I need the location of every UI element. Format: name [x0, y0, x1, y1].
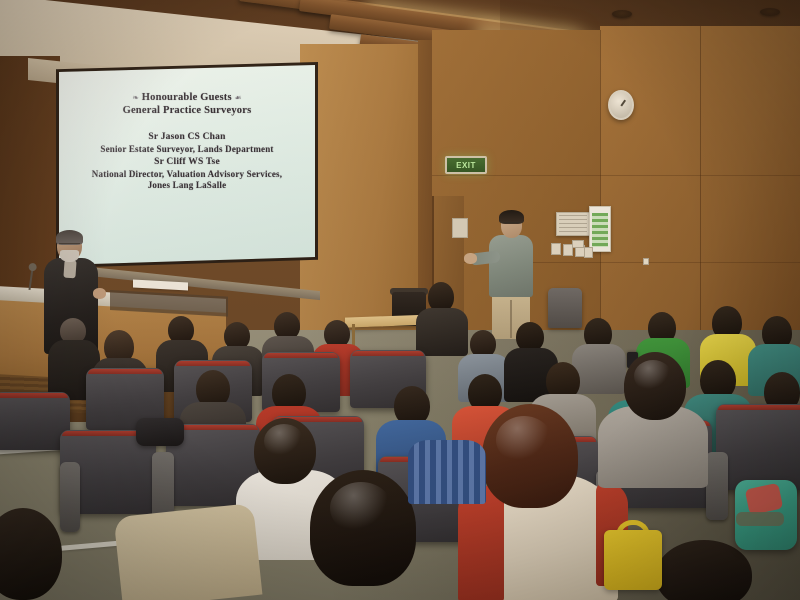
- presenter-body: [489, 235, 533, 297]
- wall-panel-seam: [432, 175, 800, 176]
- wall-small-sign: [572, 240, 584, 248]
- lectern-papers: [133, 280, 188, 291]
- exit-sign: EXIT: [445, 156, 487, 174]
- audience-body: [572, 344, 626, 394]
- exit-sign-label: EXIT: [456, 161, 476, 170]
- wall-panel-seam: [700, 26, 701, 336]
- tote-bag: [604, 530, 662, 590]
- slide-subtitle: General Practice Surveyors: [123, 104, 252, 117]
- guest-role: National Director, Valuation Advisory Se…: [92, 169, 282, 180]
- presenter-hand: [464, 253, 477, 264]
- backpack-strap: [736, 512, 784, 526]
- ornament-right-icon: ☙: [235, 93, 242, 102]
- wall-small-sign: [452, 218, 468, 238]
- presenter-leg-seam: [510, 300, 512, 338]
- slide-title: Honourable Guests: [142, 92, 232, 103]
- hair-highlight: [264, 424, 304, 458]
- lectern-speaker-beard: [60, 250, 79, 262]
- hair-highlight: [330, 482, 392, 534]
- audience-body: [416, 308, 468, 356]
- seat[interactable]: [716, 404, 800, 490]
- notice-text-lines: [559, 215, 587, 233]
- audience-body: [408, 440, 486, 504]
- guest-name: Sr Jason CS Chan: [148, 132, 225, 144]
- seat-armrest[interactable]: [60, 462, 80, 532]
- lectern-speaker-hand: [93, 288, 106, 299]
- ornament-left-icon: ❧: [132, 93, 138, 102]
- lectern-speaker-shirt: [63, 260, 76, 279]
- wall-small-sign: [584, 247, 593, 258]
- wall-socket-icon: [643, 258, 649, 265]
- slide-title-line: ❧ Honourable Guests ☙: [132, 91, 241, 104]
- side-chair: [548, 288, 582, 328]
- wall-notice: [556, 212, 590, 236]
- wall-panel-seam: [600, 30, 601, 330]
- lecture-theatre-photo: ❧ Honourable Guests ☙ General Practice S…: [0, 0, 800, 600]
- wall-poster: [589, 206, 611, 252]
- floor-bag: [136, 418, 184, 446]
- audience-legs: [114, 503, 263, 600]
- hair-highlight: [496, 416, 552, 464]
- guest-role: Jones Lang LaSalle: [148, 180, 227, 191]
- wall-clock-icon: [608, 90, 634, 120]
- guest-name: Sr Cliff WS Tse: [154, 157, 220, 169]
- presenter-glasses-icon: [502, 222, 520, 227]
- guest-role: Senior Estate Surveyor, Lands Department: [100, 144, 273, 155]
- projection-screen: ❧ Honourable Guests ☙ General Practice S…: [59, 65, 315, 265]
- hair-highlight: [634, 360, 672, 392]
- lectern-speaker-glasses-icon: [59, 243, 80, 248]
- seat-armrest[interactable]: [706, 452, 728, 520]
- wall-small-sign: [551, 243, 561, 255]
